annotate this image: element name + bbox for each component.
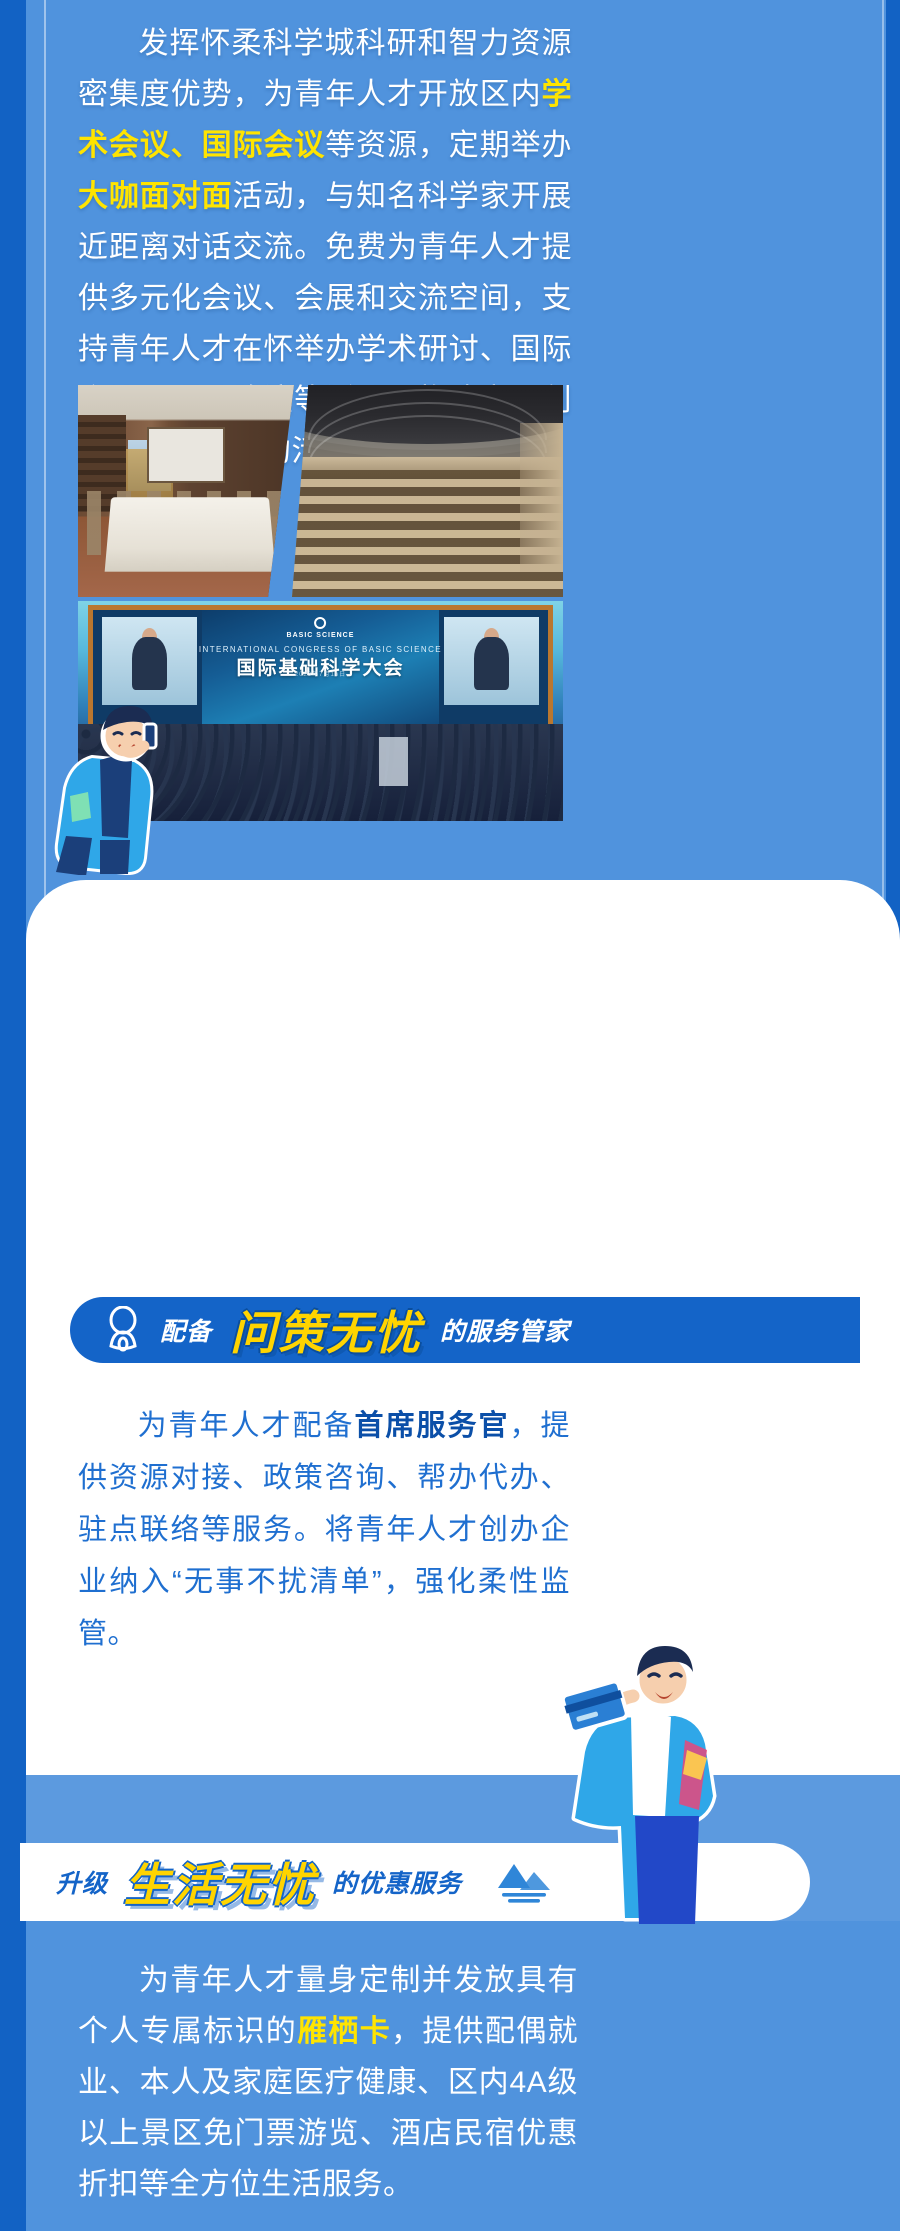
photo-auditorium [292, 385, 563, 597]
illustration-young-man-with-phone [40, 700, 205, 875]
band-tail-text: 的服务管家 [440, 1312, 570, 1348]
text-run: ，提供资源对接、政策咨询、帮办代办、驻点联络等服务。将青年人才创办企业纳入“无事… [78, 1410, 570, 1650]
text-run: 发挥怀柔科学城科研和智力资源密集度优势，为青年人才开放区内 [78, 27, 572, 111]
white-card-top [26, 880, 900, 1230]
highlight-run: 首席服务官 [354, 1410, 509, 1442]
person-icon [104, 1306, 142, 1354]
paragraph-service-steward: 为青年人才配备首席服务官，提供资源对接、政策咨询、帮办代办、驻点联络等服务。将青… [78, 1400, 570, 1660]
congress-logo: BASIC SCIENCE [287, 617, 355, 640]
photo-boardroom [78, 385, 294, 597]
text-run: 等资源，定期举办 [325, 129, 572, 162]
section-band-service-steward[interactable]: 配备 问策无忧 的服务管家 [70, 1297, 860, 1363]
infographic-page: 发挥怀柔科学城科研和智力资源密集度优势，为青年人才开放区内学术会议、国际会议等资… [0, 0, 900, 2231]
photo-row-top [78, 385, 563, 597]
band-title-text: 问策无忧 [230, 1297, 422, 1363]
band-lead-text: 升级 [56, 1864, 108, 1900]
paragraph-life-benefits: 为青年人才量身定制并发放具有个人专属标识的雁栖卡，提供配偶就业、本人及家庭医疗健… [78, 1955, 578, 2210]
congress-screen-left [102, 617, 198, 705]
band-tail-text: 的优惠服务 [332, 1864, 462, 1900]
illustration-young-man-with-card [535, 1630, 750, 1930]
congress-screen-right [444, 617, 540, 705]
text-run: 为青年人才配备 [136, 1410, 354, 1442]
highlight-run: 雁栖卡 [297, 2015, 391, 2048]
band-title-text: 生活无忧 [124, 1849, 316, 1915]
highlight-run: 大咖面对面 [78, 180, 233, 213]
band-lead-text: 配备 [160, 1312, 212, 1348]
congress-subline: 2023年7月16日 [295, 669, 346, 678]
